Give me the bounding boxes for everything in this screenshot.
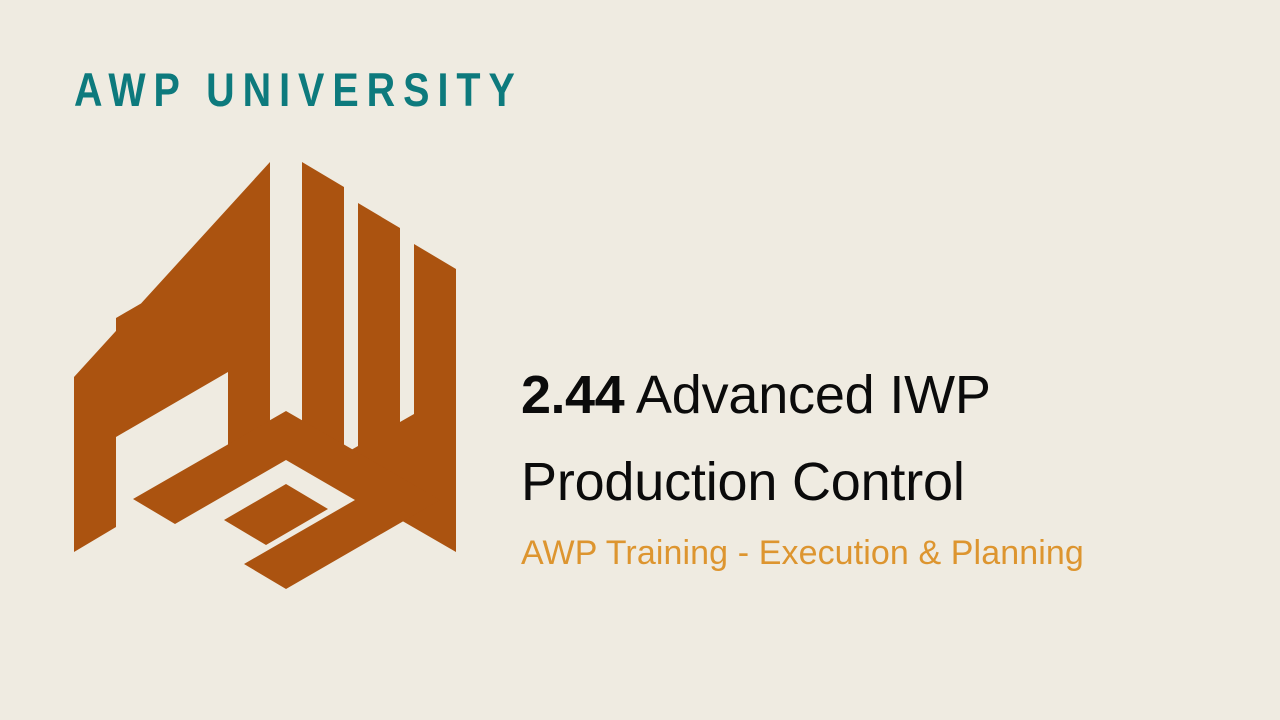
title-slide: AWP UNIVERSITY 2.44 Advanced IWP Product… xyxy=(0,0,1280,720)
course-subtitle: AWP Training - Execution & Planning xyxy=(521,533,1141,573)
awp-cube-logo-svg xyxy=(70,155,502,607)
title-block: 2.44 Advanced IWP Production Control AWP… xyxy=(521,352,1141,573)
course-title: 2.44 Advanced IWP Production Control xyxy=(521,352,1141,527)
course-number: 2.44 xyxy=(521,365,624,425)
awp-cube-logo xyxy=(70,155,502,607)
brand-eyebrow: AWP UNIVERSITY xyxy=(74,66,523,113)
